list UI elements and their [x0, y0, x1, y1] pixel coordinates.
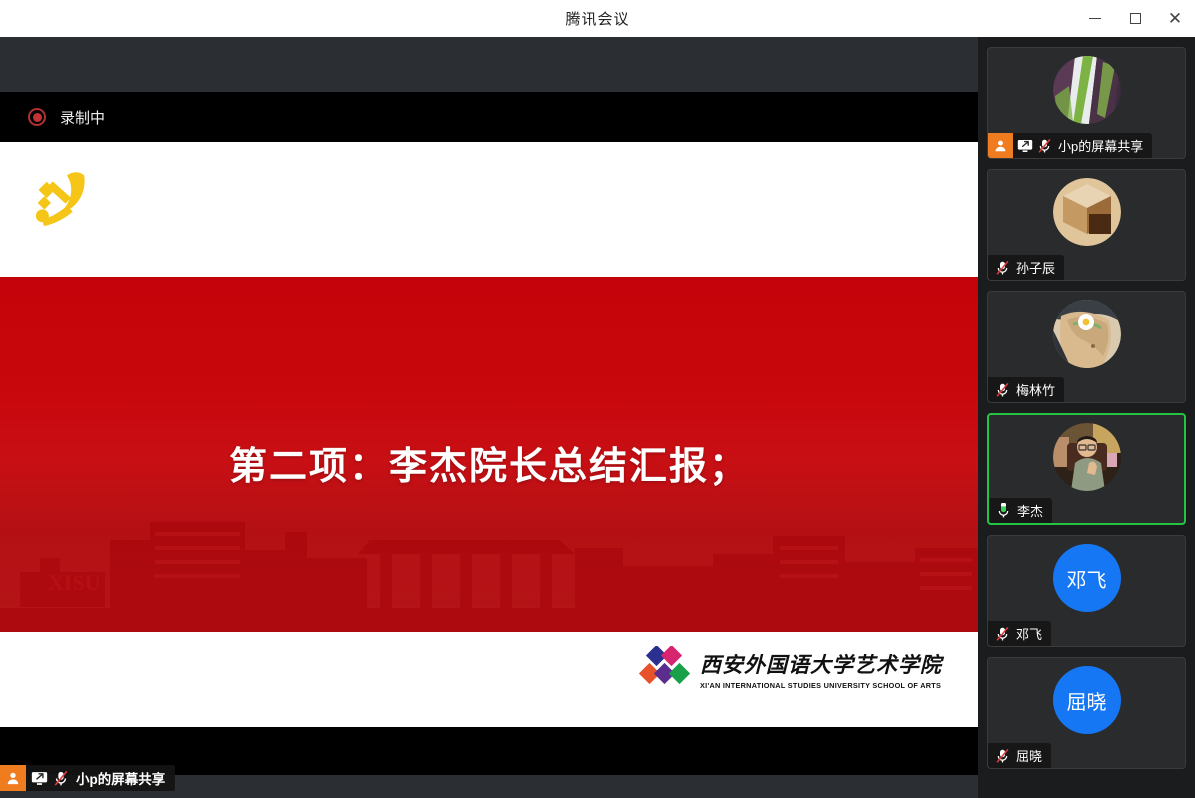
shared-screen-area: 录制中 [0, 37, 978, 798]
participant-name: 小p的屏幕共享 [1058, 136, 1143, 155]
avatar [1053, 423, 1121, 491]
mic-muted-icon [1037, 138, 1052, 154]
share-top-strip [0, 37, 978, 92]
recording-label: 录制中 [60, 107, 105, 128]
school-name-en: XI'AN INTERNATIONAL STUDIES UNIVERSITY S… [700, 681, 942, 690]
avatar [1053, 178, 1121, 246]
slide-title: 第二项：李杰院长总结汇报； [0, 435, 978, 490]
mic-muted-icon [995, 748, 1010, 764]
avatar-initials: 邓飞 [1053, 544, 1121, 612]
presenter-chip[interactable]: 小p的屏幕共享 [0, 765, 175, 791]
school-logo-text: 西安外国语大学艺术学院 XI'AN INTERNATIONAL STUDIES … [700, 649, 942, 690]
mic-muted-icon [995, 260, 1010, 276]
school-logo: 西安外国语大学艺术学院 XI'AN INTERNATIONAL STUDIES … [638, 646, 942, 692]
recording-bar: 录制中 [0, 92, 978, 142]
participant-name: 屈晓 [1016, 746, 1042, 765]
window-title: 腾讯会议 [565, 8, 629, 29]
participant-name: 孙子辰 [1016, 258, 1055, 277]
host-badge-icon [0, 765, 26, 791]
screen-share-icon [31, 771, 48, 786]
avatar-initials: 屈晓 [1053, 666, 1121, 734]
school-name-cn: 西安外国语大学艺术学院 [700, 649, 942, 679]
screen-share-icon [1017, 139, 1033, 153]
maximize-button[interactable] [1115, 0, 1155, 37]
participant-name: 邓飞 [1016, 624, 1042, 643]
mic-active-icon [996, 503, 1011, 519]
participant-tile[interactable]: 屈晓 屈晓 [987, 657, 1186, 769]
tile-label: 李杰 [989, 498, 1052, 523]
party-emblem-icon [28, 164, 100, 236]
minimize-icon [1089, 18, 1101, 19]
participant-tile[interactable]: 梅林竹 [987, 291, 1186, 403]
participant-name: 梅林竹 [1016, 380, 1055, 399]
participant-name: 李杰 [1017, 501, 1043, 520]
close-icon: ✕ [1168, 10, 1182, 27]
presentation-slide: XISU 第二项：李杰院长总结汇报； 西安外国语大学艺术学院 XI'AN INT… [0, 142, 978, 727]
participant-rail[interactable]: 小p的屏幕共享 孙子辰 [978, 37, 1195, 798]
participant-tile-active-speaker[interactable]: 李杰 [987, 413, 1186, 525]
mic-muted-icon [995, 382, 1010, 398]
participant-tile[interactable]: 孙子辰 [987, 169, 1186, 281]
slide-body: XISU 第二项：李杰院长总结汇报； [0, 277, 978, 632]
recording-indicator-icon [28, 108, 46, 126]
window-controls: ✕ [1075, 0, 1195, 37]
participant-tile[interactable]: 邓飞 邓飞 [987, 535, 1186, 647]
mic-muted-icon [995, 626, 1010, 642]
host-badge-icon [988, 133, 1013, 158]
tile-label: 梅林竹 [988, 377, 1064, 402]
close-button[interactable]: ✕ [1155, 0, 1195, 37]
maximize-icon [1130, 13, 1141, 24]
mic-muted-icon [53, 770, 69, 787]
tile-label: 邓飞 [988, 621, 1051, 646]
svg-text:XISU: XISU [48, 570, 101, 595]
minimize-button[interactable] [1075, 0, 1115, 37]
presenter-name: 小p的屏幕共享 [76, 768, 165, 788]
tile-label: 孙子辰 [988, 255, 1064, 280]
avatar [1053, 56, 1121, 124]
slide-footer-band: 西安外国语大学艺术学院 XI'AN INTERNATIONAL STUDIES … [0, 632, 978, 727]
participant-tile[interactable]: 小p的屏幕共享 [987, 47, 1186, 159]
school-logo-mark-icon [638, 646, 690, 692]
avatar [1053, 300, 1121, 368]
window-title-bar: 腾讯会议 ✕ [0, 0, 1195, 37]
tile-label: 小p的屏幕共享 [988, 133, 1152, 158]
tile-label: 屈晓 [988, 743, 1051, 768]
slide-header-band [0, 142, 978, 277]
